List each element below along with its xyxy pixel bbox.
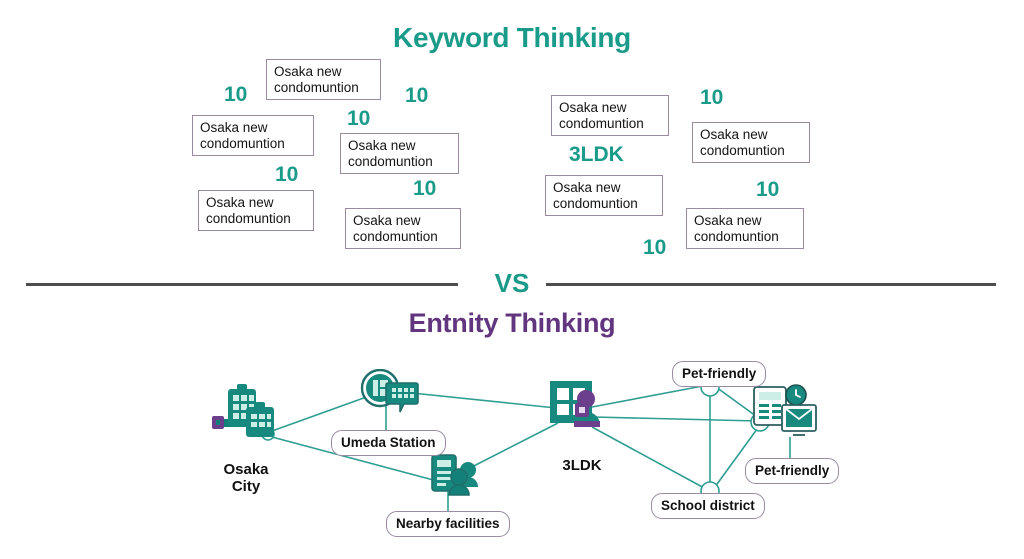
keyword-box: Osaka new condomuntion [692,122,810,163]
entity-section-title: Entnity Thinking [0,308,1024,339]
node-title: Osaka City [196,461,296,495]
keyword-count: 10 [347,107,370,131]
node-title: 3LDK [532,457,632,474]
keyword-count: 10 [413,177,436,201]
keyword-box: Osaka new condomuntion [545,175,663,216]
keyword-box: Osaka new condomuntion [266,59,381,100]
apartment-3ldk-icon [548,379,608,436]
osaka-city-icon [212,383,284,450]
divider-line-right [546,283,996,286]
keyword-box: Osaka new condomuntion [192,115,314,156]
entity-graph: Osaka City3LDK Umeda StationNearby facil… [0,345,1024,559]
keyword-count: 10 [405,84,428,108]
entity-pill-nearby-facilities[interactable]: Nearby facilities [386,511,510,537]
infographic-canvas: Keyword Thinking Osaka new condomuntionO… [0,0,1024,559]
keyword-box: Osaka new condomuntion [198,190,314,231]
keyword-box: Osaka new condomuntion [345,208,461,249]
keyword-count: 10 [643,236,666,260]
keyword-count: 10 [275,163,298,187]
keyword-section-title: Keyword Thinking [0,22,1024,54]
keyword-term-3ldk: 3LDK [569,143,624,167]
keyword-box: Osaka new condomuntion [686,208,804,249]
graph-edges [0,345,1024,559]
keyword-count: 10 [756,178,779,202]
listing-mail-icon [752,383,818,442]
keyword-box: Osaka new condomuntion [551,95,669,136]
entity-pill-umeda-station[interactable]: Umeda Station [331,430,446,456]
umeda-station-icon [358,369,420,420]
entity-pill-pet-friendly[interactable]: Pet-friendly [672,361,766,387]
divider-line-left [26,283,458,286]
nearby-facilities-icon [428,453,486,506]
keyword-count: 10 [224,83,247,107]
entity-pill-pet-friendly[interactable]: Pet-friendly [745,458,839,484]
vs-label: VS [478,268,546,299]
keyword-box: Osaka new condomuntion [340,133,459,174]
keyword-count: 10 [700,86,723,110]
entity-pill-school-district[interactable]: School district [651,493,765,519]
